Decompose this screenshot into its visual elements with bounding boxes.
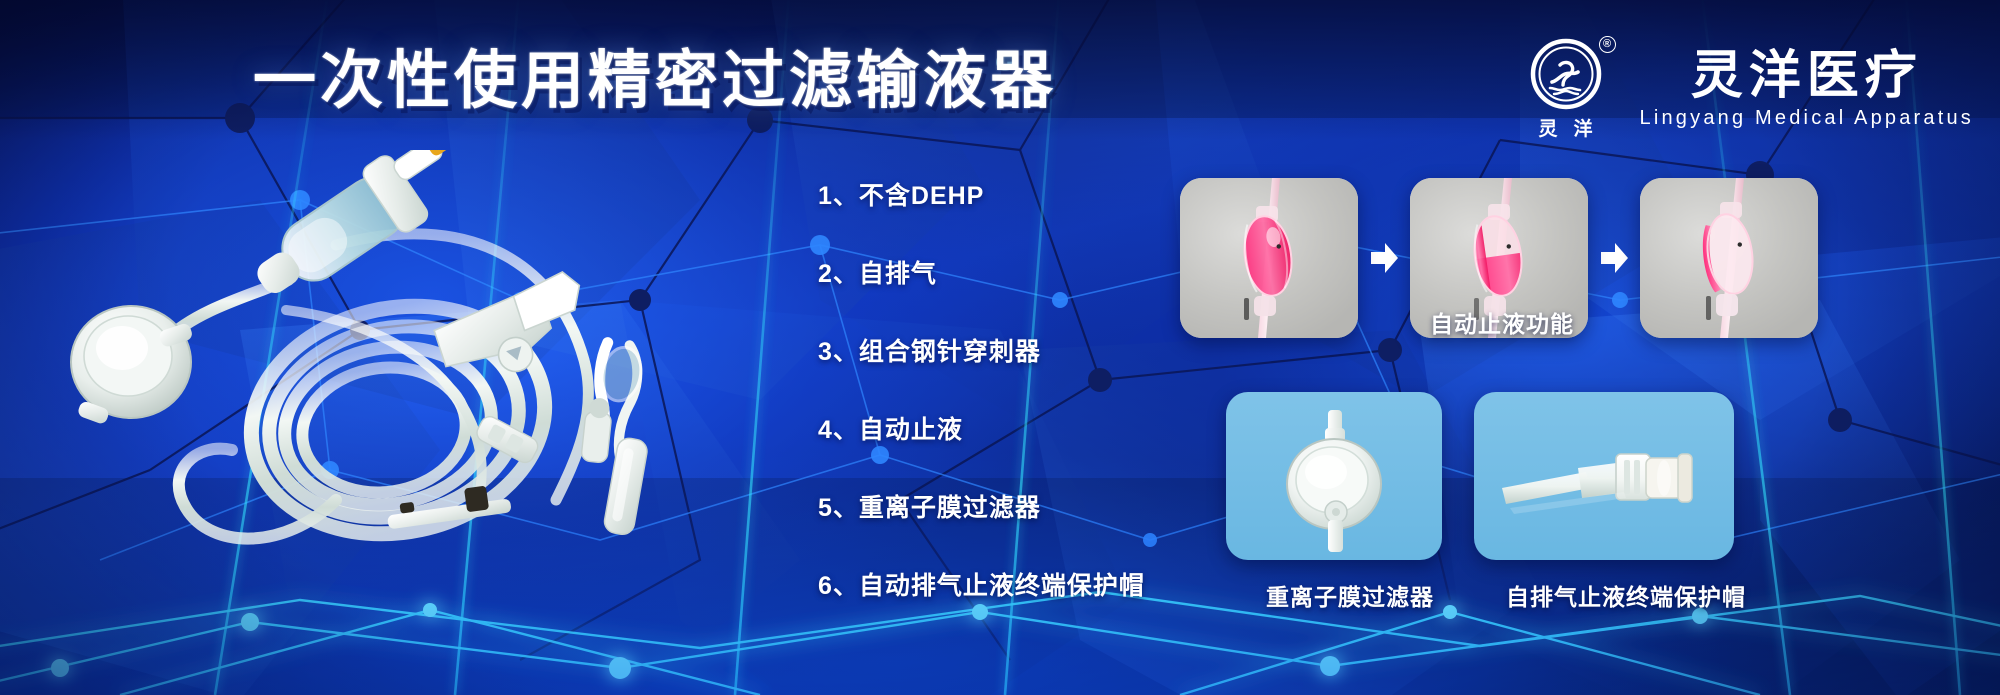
demo-arrow-2 [1588,241,1640,275]
right-arrow-icon [1599,241,1629,275]
lingyang-wave-circle-logo-icon: ® [1530,38,1602,110]
product-banner: 一次性使用精密过滤输液器 ® 灵洋 灵洋医疗 Lingyang Medical … [0,0,2000,695]
heavy-ion-membrane-filter-card [1226,392,1442,560]
feature-item-4: 4、自动止液 [818,410,1145,446]
page-title: 一次性使用精密过滤输液器 [253,50,1057,113]
brand-logo: ® 灵洋 灵洋医疗 Lingyang Medical Apparatus [1514,38,1974,141]
brand-mark: ® 灵洋 [1514,38,1618,141]
detail-caption-endcap: 自排气止液终端保护帽 [1506,578,1746,612]
auto-vent-stop-end-cap-card [1474,392,1734,560]
feature-item-6: 6、自动排气止液终端保护帽 [818,566,1145,602]
feature-item-2: 2、自排气 [818,254,1145,290]
registered-mark-icon: ® [1599,36,1616,53]
brand-mark-label: 灵洋 [1523,114,1609,141]
right-arrow-icon [1369,241,1399,275]
detail-card-row [1226,392,1734,560]
demo-frame-1 [1180,178,1358,338]
demo-caption: 自动止液功能 [1430,305,1574,339]
brand-text: 灵洋医疗 Lingyang Medical Apparatus [1640,49,1974,131]
detail-caption-filter: 重离子膜过滤器 [1266,578,1434,612]
demo-arrow-1 [1358,241,1410,275]
demo-frame-3 [1640,178,1818,338]
feature-item-1: 1、不含DEHP [818,176,1145,212]
feature-item-3: 3、组合钢针穿刺器 [818,332,1145,368]
feature-item-5: 5、重离子膜过滤器 [818,488,1145,524]
brand-name-en: Lingyang Medical Apparatus [1640,107,1974,130]
iv-infusion-set-photo [36,150,776,550]
brand-name-cn: 灵洋医疗 [1691,49,1923,104]
feature-list: 1、不含DEHP 2、自排气 3、组合钢针穿刺器 4、自动止液 5、重离子膜过滤… [818,176,1145,602]
